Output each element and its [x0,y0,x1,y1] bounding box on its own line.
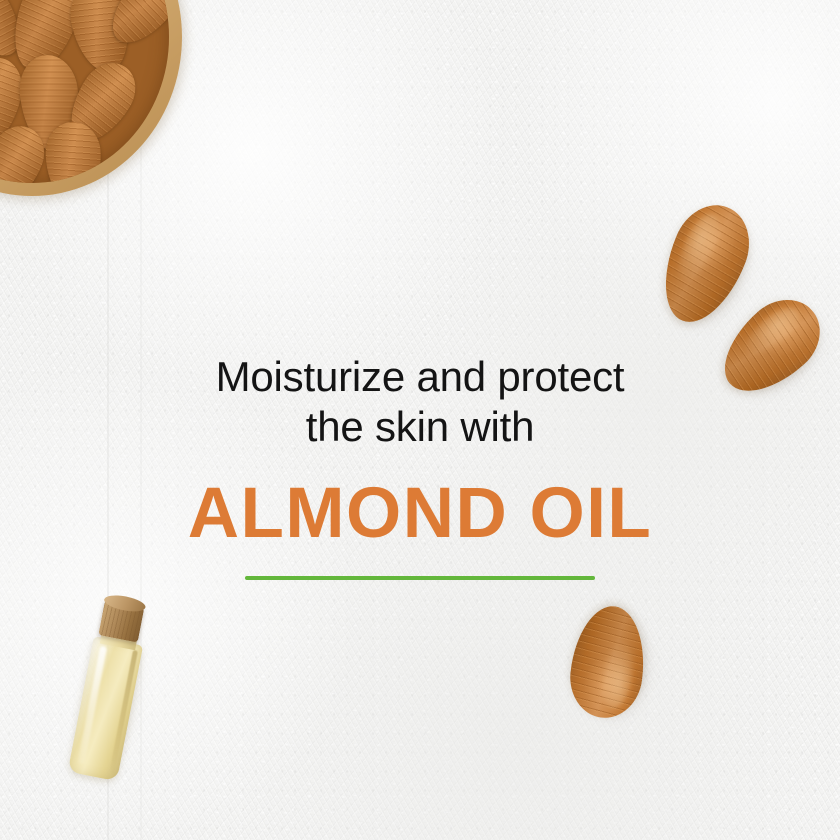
bowl-almond [44,121,102,183]
almond-oil-banner: Moisturize and protect the skin with ALM… [0,0,840,840]
tagline-line-1: Moisturize and protect [0,352,840,402]
almond-bottom [565,602,650,722]
bowl-interior [0,0,169,183]
headline-block: Moisturize and protect the skin with ALM… [0,352,840,580]
tagline-line-2: the skin with [0,402,840,452]
accent-rule-wrapper [0,576,840,580]
accent-rule [245,576,595,580]
product-name: ALMOND OIL [0,476,840,552]
bowl-of-almonds [0,0,182,196]
